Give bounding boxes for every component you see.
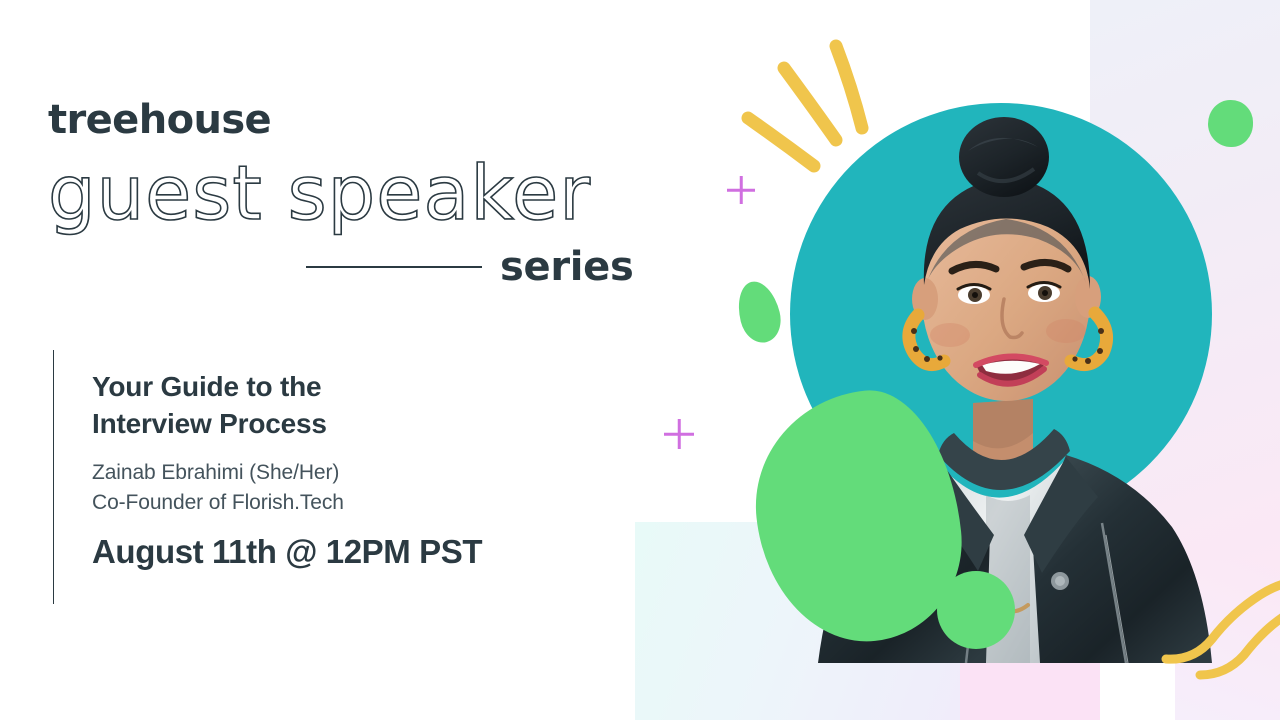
speaker-role: Co-Founder of Florish.Tech [92,488,482,518]
series-label: series [500,247,634,287]
speaker-name: Zainab Ebrahimi (She/Her) [92,458,482,488]
promo-slide: treehouse guest speaker series Your Guid… [0,0,1280,720]
event-datetime: August 11th @ 12PM PST [92,534,482,570]
series-row: series [48,247,648,287]
organic-blob-icon-bottom [937,571,1015,649]
session-details-block: Your Guide to the Interview Process Zain… [53,350,482,604]
series-divider-rule [306,266,482,268]
session-title: Your Guide to the Interview Process [92,368,482,442]
organic-blob-icon-top-right [1208,100,1253,147]
treehouse-wordmark: treehouse [48,100,648,140]
series-headline: guest speaker [48,154,648,233]
sparkle-rays-icon [740,30,910,190]
plus-mark-icon-middle [664,419,694,449]
wavy-lines-icon [1160,575,1280,685]
organic-blob-icon-small-left [732,277,786,347]
plus-mark-icon-top [727,176,755,204]
brand-block: treehouse guest speaker series [48,100,648,287]
